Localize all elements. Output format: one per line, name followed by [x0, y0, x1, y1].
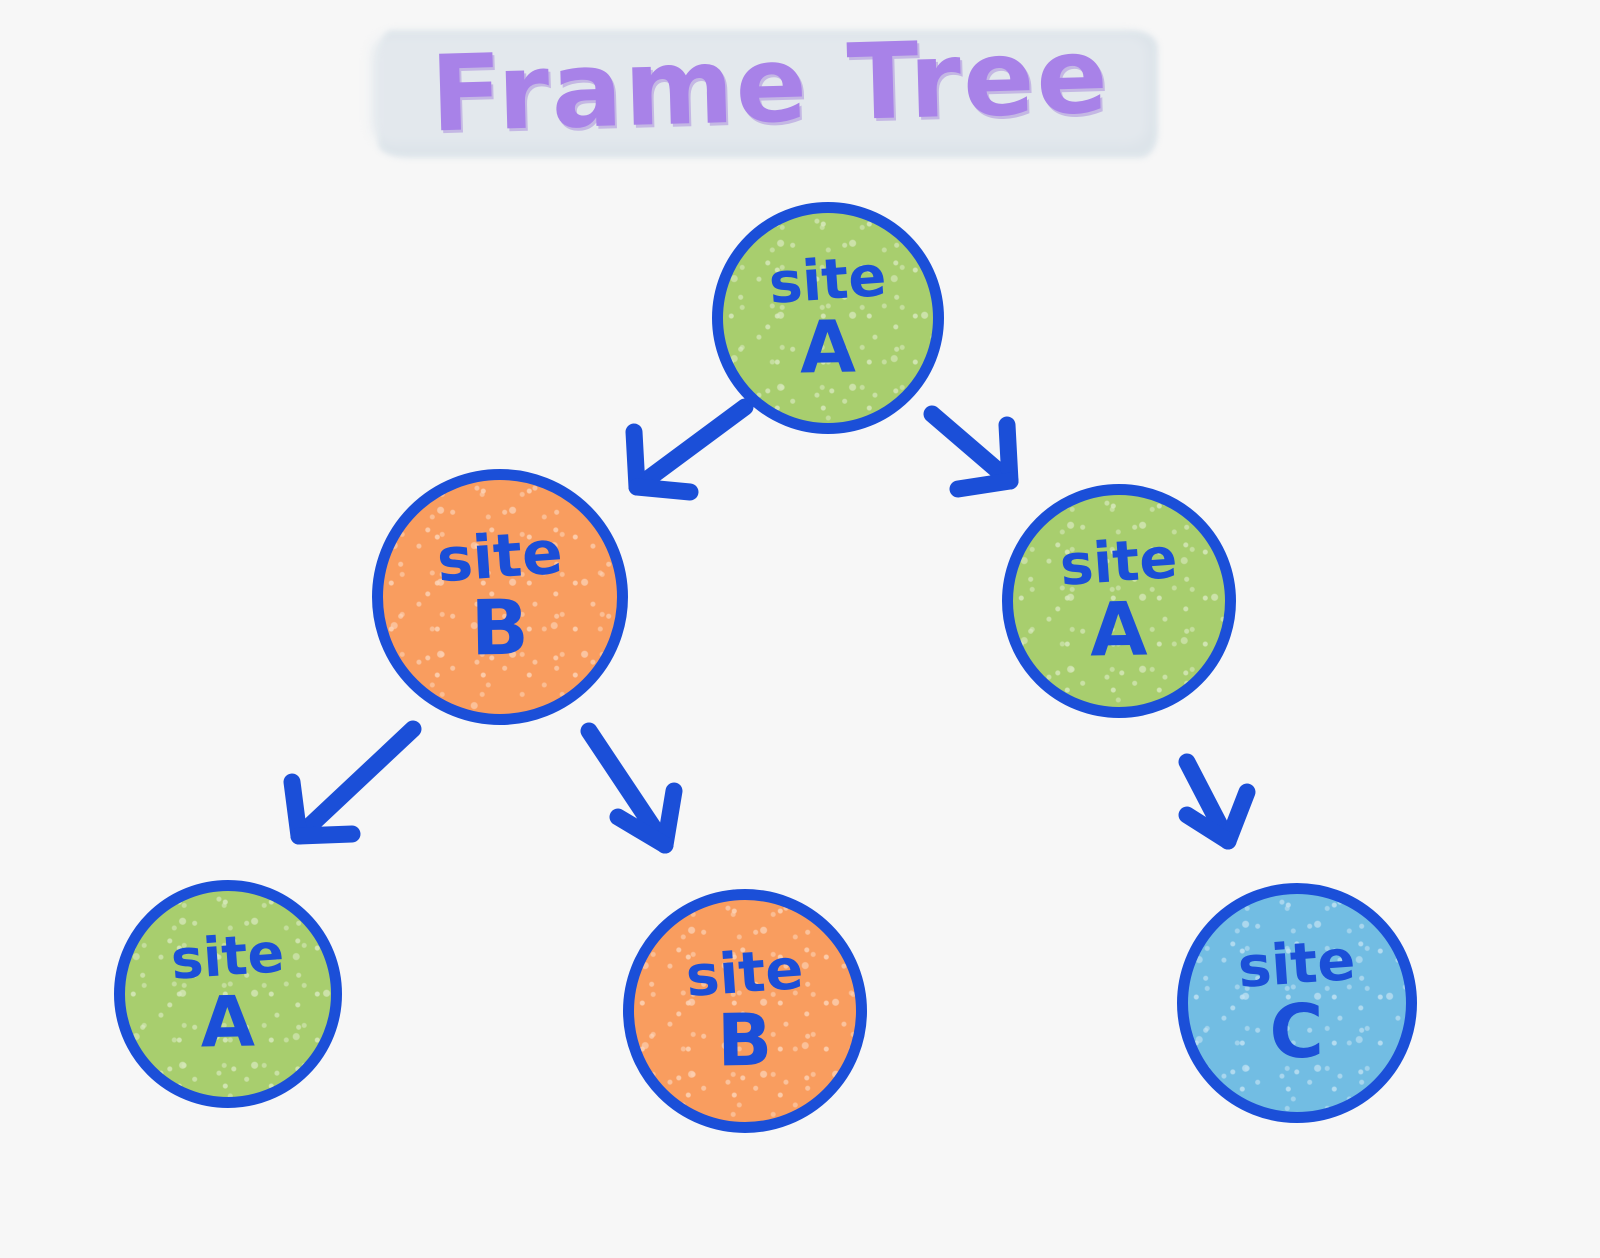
diagram-canvas: Frame Tree — [0, 0, 1600, 1258]
arrow-site-a-to-site-c — [1187, 762, 1247, 841]
node-root-site-a[interactable]: site A — [712, 202, 944, 434]
node-site-a-level2[interactable]: site A — [1002, 484, 1236, 718]
node-label: site B — [686, 947, 803, 1076]
node-label: site A — [171, 931, 284, 1056]
node-label-bottom: A — [769, 312, 887, 383]
node-label-bottom: B — [686, 1005, 804, 1076]
node-label-bottom: C — [1238, 996, 1357, 1069]
node-label: site C — [1238, 938, 1355, 1069]
node-label-bottom: A — [1060, 594, 1179, 667]
arrow-root-to-site-a-right — [932, 414, 1010, 489]
node-label-top: site — [1237, 934, 1358, 996]
node-site-b-level2[interactable]: site B — [372, 469, 628, 725]
arrow-root-to-site-b — [634, 407, 745, 492]
node-label: site A — [1060, 536, 1177, 667]
node-label-top: site — [170, 928, 286, 988]
page-title: Frame Tree — [370, 18, 1170, 168]
node-label: site B — [437, 529, 563, 666]
page-title-text: Frame Tree — [368, 13, 1171, 157]
node-label-top: site — [685, 943, 806, 1005]
node-site-a-level3-left[interactable]: site A — [114, 880, 342, 1108]
node-label-top: site — [768, 250, 889, 312]
node-label-bottom: B — [437, 591, 564, 666]
arrow-site-b-to-site-a — [292, 729, 413, 836]
arrow-site-b-to-site-b — [589, 731, 674, 845]
node-label-bottom: A — [171, 988, 285, 1057]
node-label-top: site — [435, 524, 564, 590]
node-label: site A — [769, 254, 886, 383]
node-site-c-level3-right[interactable]: site C — [1177, 883, 1417, 1123]
node-site-b-level3-middle[interactable]: site B — [623, 889, 867, 1133]
node-label-top: site — [1059, 532, 1180, 594]
